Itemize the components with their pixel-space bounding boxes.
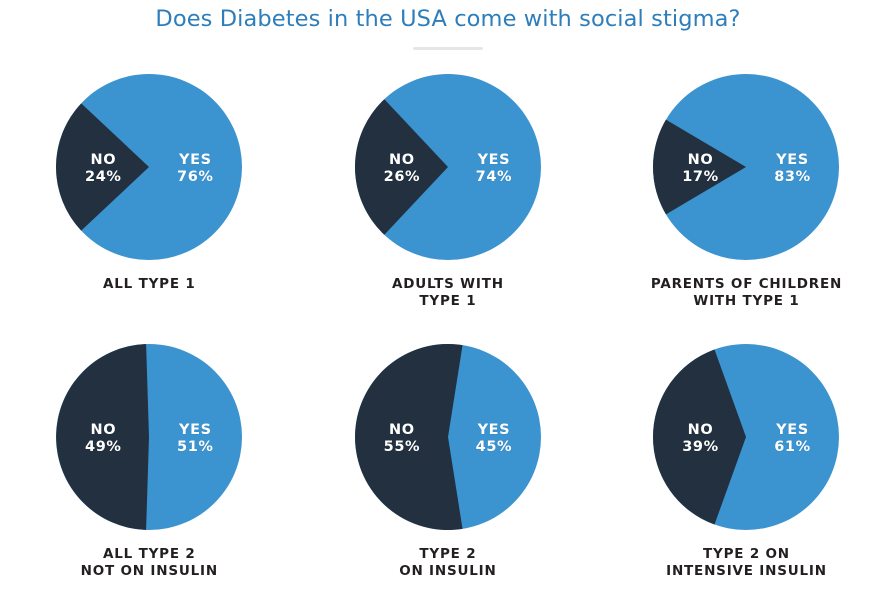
pie-label-no-text: NO [688, 152, 714, 168]
page-title: Does Diabetes in the USA come with socia… [0, 6, 896, 32]
chart-cell-parents-of-children-with-type-1: NO 17% YES 83% PARENTS OF CHILDREN WITH … [597, 72, 896, 310]
chart-row-1: NO 24% YES 76% ALL TYPE 1 [0, 72, 896, 310]
pie-label-no-percent: 55% [373, 439, 431, 456]
pie-label-no-percent: 49% [74, 439, 132, 456]
pie-label-no-percent: 24% [74, 169, 132, 186]
pie-label-yes-percent: 76% [164, 169, 226, 186]
pie-label-no: NO 39% [671, 422, 729, 456]
chart-caption: ALL TYPE 1 [103, 276, 196, 293]
pie-label-yes: YES 61% [761, 422, 823, 456]
pie-label-yes-text: YES [179, 152, 212, 168]
pie-label-yes: YES 76% [164, 152, 226, 186]
chart-caption: ADULTS WITH TYPE 1 [392, 276, 504, 310]
pie-label-no-text: NO [688, 422, 714, 438]
pie-chart-type-2-on-insulin: NO 55% YES 45% [353, 342, 543, 532]
pie-label-yes-text: YES [776, 152, 809, 168]
pie-label-yes-percent: 61% [761, 439, 823, 456]
chart-caption: TYPE 2 ON INSULIN [399, 546, 496, 580]
pie-label-no-text: NO [389, 152, 415, 168]
pie-label-yes-percent: 74% [463, 169, 525, 186]
chart-cell-adults-with-type-1: NO 26% YES 74% ADULTS WITH TYPE 1 [299, 72, 598, 310]
chart-cell-type-2-on-insulin: NO 55% YES 45% TYPE 2 ON INSULIN [299, 342, 598, 580]
pie-label-no-percent: 26% [373, 169, 431, 186]
chart-cell-type-2-on-intensive-insulin: NO 39% YES 61% TYPE 2 ON INTENSIVE INSUL… [597, 342, 896, 580]
pie-label-yes: YES 74% [463, 152, 525, 186]
pie-label-no: NO 26% [373, 152, 431, 186]
pie-label-yes-text: YES [776, 422, 809, 438]
pie-label-no-percent: 39% [671, 439, 729, 456]
pie-label-yes: YES 83% [761, 152, 823, 186]
pie-label-no: NO 17% [671, 152, 729, 186]
chart-row-2: NO 49% YES 51% ALL TYPE 2 NOT ON INSULIN [0, 342, 896, 580]
chart-caption: PARENTS OF CHILDREN WITH TYPE 1 [651, 276, 842, 310]
pie-chart-all-type-2-not-on-insulin: NO 49% YES 51% [54, 342, 244, 532]
pie-label-yes: YES 45% [463, 422, 525, 456]
pie-label-yes-text: YES [478, 422, 511, 438]
pie-chart-parents-of-children-with-type-1: NO 17% YES 83% [651, 72, 841, 262]
pie-chart-grid: NO 24% YES 76% ALL TYPE 1 [0, 72, 896, 580]
pie-label-yes-text: YES [478, 152, 511, 168]
pie-label-yes-percent: 45% [463, 439, 525, 456]
pie-label-no: NO 49% [74, 422, 132, 456]
pie-label-yes-text: YES [179, 422, 212, 438]
pie-label-yes-percent: 51% [164, 439, 226, 456]
title-divider [413, 47, 483, 50]
pie-label-no-text: NO [90, 152, 116, 168]
pie-label-yes-percent: 83% [761, 169, 823, 186]
pie-chart-type-2-on-intensive-insulin: NO 39% YES 61% [651, 342, 841, 532]
pie-label-yes: YES 51% [164, 422, 226, 456]
infographic-page: Does Diabetes in the USA come with socia… [0, 0, 896, 595]
pie-label-no-text: NO [90, 422, 116, 438]
pie-label-no: NO 24% [74, 152, 132, 186]
chart-caption: TYPE 2 ON INTENSIVE INSULIN [666, 546, 827, 580]
pie-chart-all-type-1: NO 24% YES 76% [54, 72, 244, 262]
pie-label-no: NO 55% [373, 422, 431, 456]
pie-label-no-percent: 17% [671, 169, 729, 186]
chart-cell-all-type-2-not-on-insulin: NO 49% YES 51% ALL TYPE 2 NOT ON INSULIN [0, 342, 299, 580]
chart-caption: ALL TYPE 2 NOT ON INSULIN [81, 546, 218, 580]
pie-chart-adults-with-type-1: NO 26% YES 74% [353, 72, 543, 262]
pie-label-no-text: NO [389, 422, 415, 438]
chart-cell-all-type-1: NO 24% YES 76% ALL TYPE 1 [0, 72, 299, 310]
